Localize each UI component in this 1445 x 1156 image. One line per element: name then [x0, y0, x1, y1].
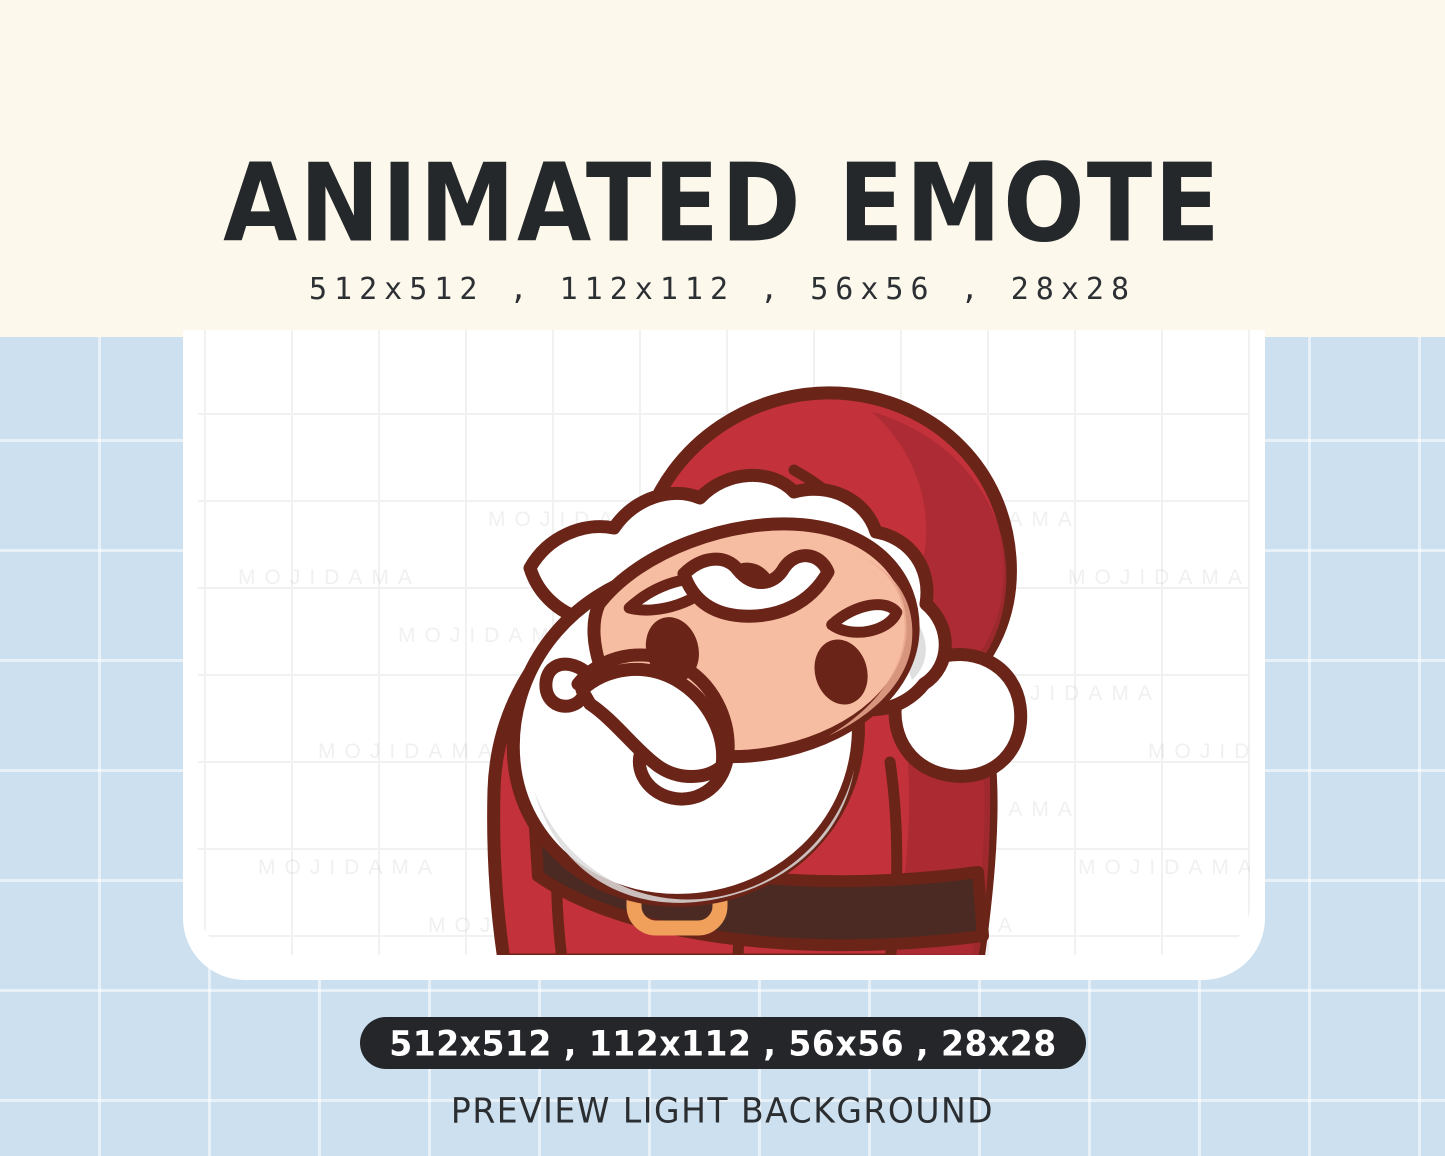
header-banner: ANIMATED EMOTE 512x512 , 112x112 , 56x56… — [0, 0, 1445, 337]
size-badge-label: 512x512 , 112x112 , 56x56 , 28x28 — [389, 1022, 1056, 1063]
santa-artwork — [198, 330, 1250, 955]
size-badge[interactable]: 512x512 , 112x112 , 56x56 , 28x28 — [360, 1017, 1086, 1069]
emote-listing-preview: ANIMATED EMOTE 512x512 , 112x112 , 56x56… — [0, 0, 1445, 1156]
emote-preview-card[interactable]: MOJIDAMAMOJIDAMAMOJIDAMAMOJIDAMAMOJIDAMA… — [198, 330, 1250, 955]
preview-caption: PREVIEW LIGHT BACKGROUND — [0, 1090, 1445, 1131]
header-size-list: 512x512 , 112x112 , 56x56 , 28x28 — [0, 272, 1445, 307]
page-title: ANIMATED EMOTE — [0, 150, 1445, 258]
santa-claus-illustration — [438, 360, 1058, 955]
